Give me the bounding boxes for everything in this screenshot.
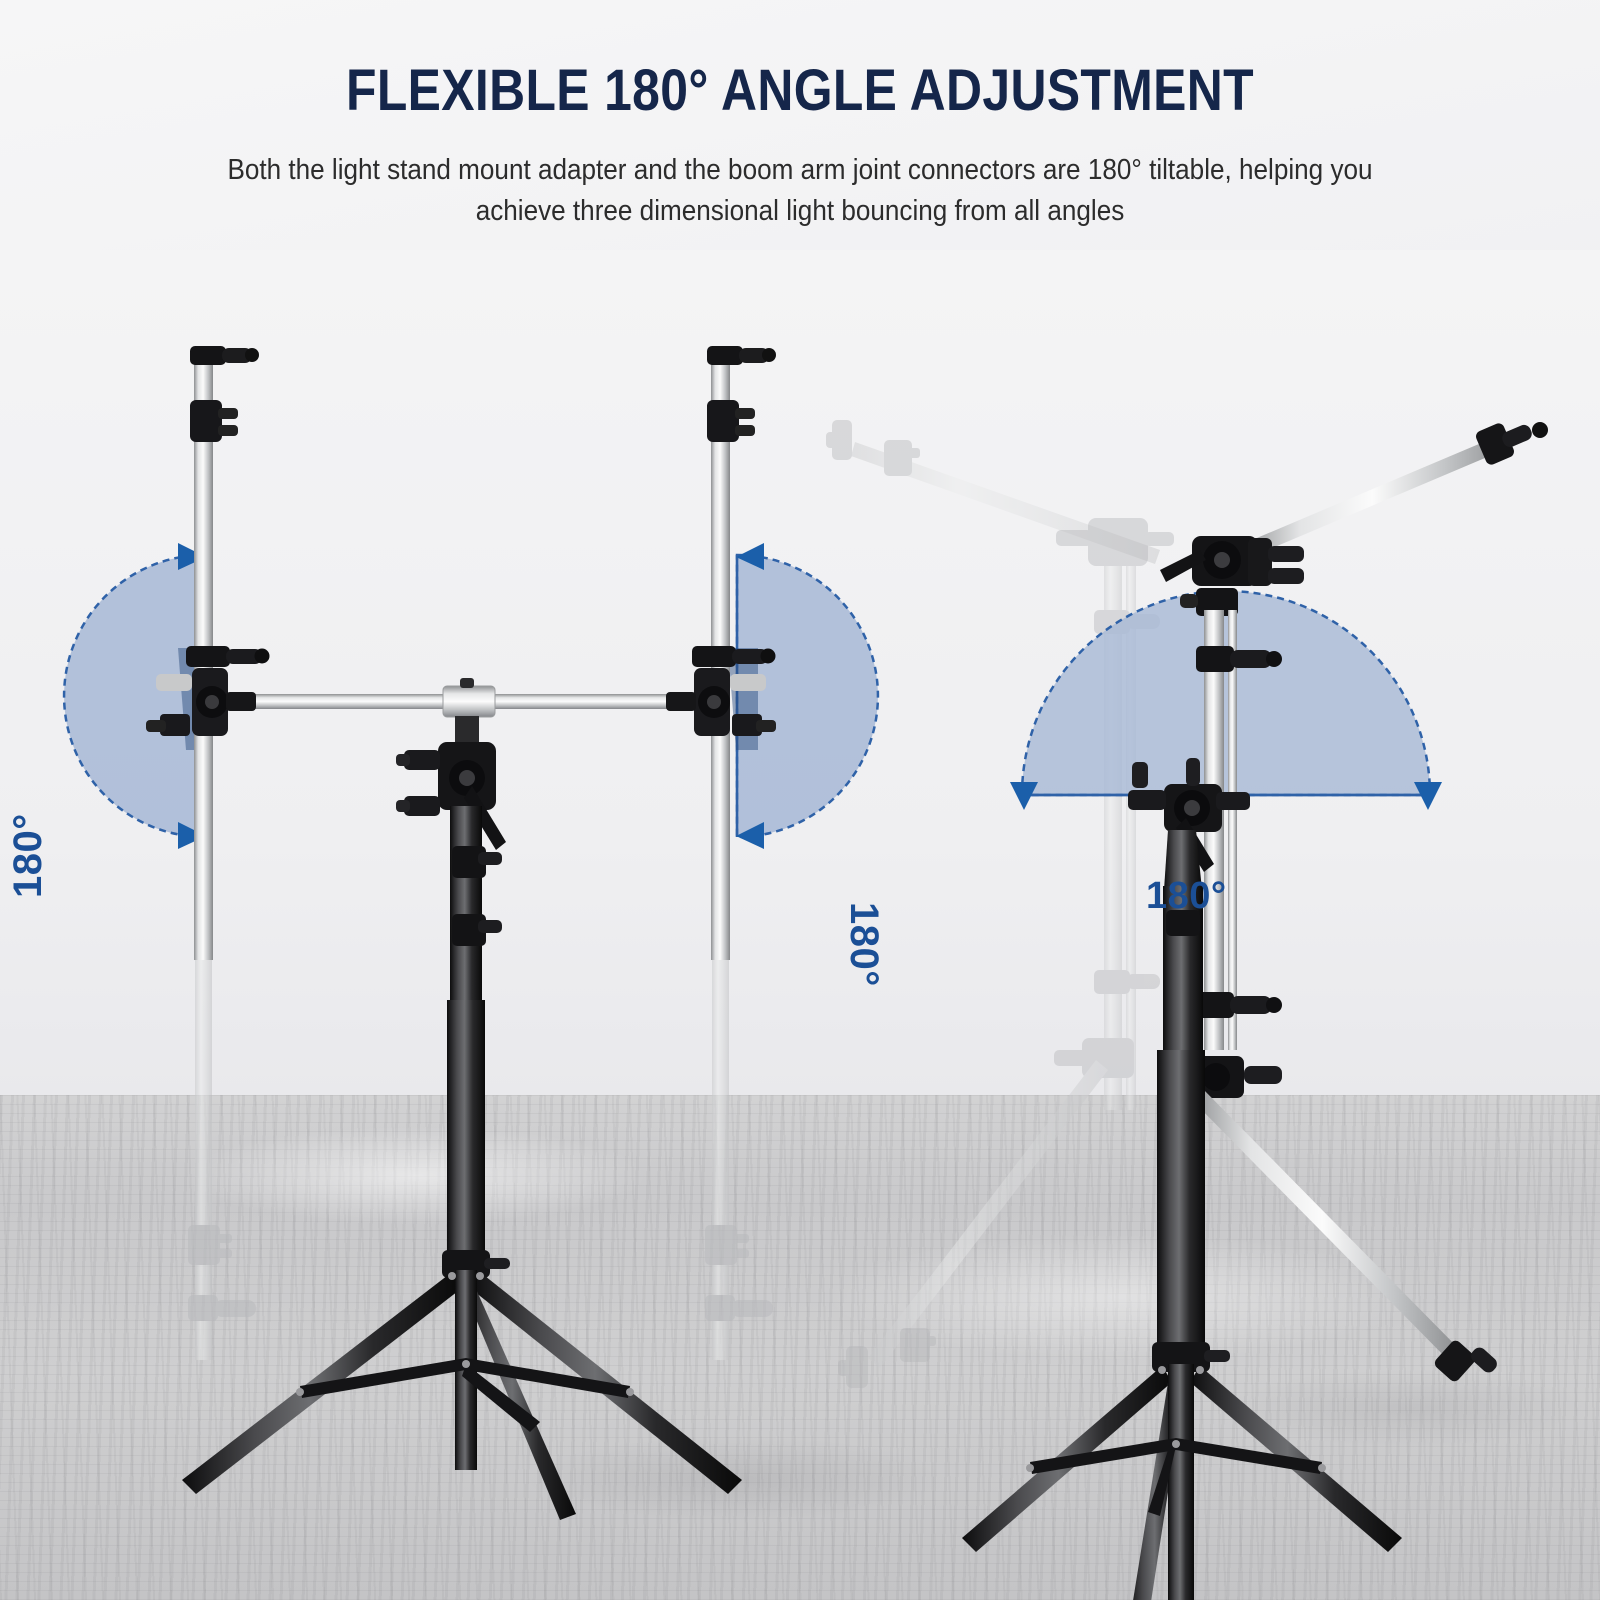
left-angle-label-right: 180° xyxy=(841,902,886,987)
product-scene: 180° 180° 180° xyxy=(0,250,1600,1600)
left-joint-connector-b xyxy=(666,646,776,736)
left-horizontal-crossbar xyxy=(212,678,722,717)
header: FLEXIBLE 180° ANGLE ADJUSTMENT Both the … xyxy=(0,0,1600,231)
page-title: FLEXIBLE 180° ANGLE ADJUSTMENT xyxy=(112,0,1488,120)
right-stand-tripod xyxy=(962,1342,1402,1600)
page-subtitle: Both the light stand mount adapter and t… xyxy=(188,120,1412,231)
right-stand-lower-boom xyxy=(1190,1086,1500,1384)
product-illustration xyxy=(0,250,1600,1600)
right-angle-label: 180° xyxy=(1146,875,1227,918)
left-angle-label-left: 180° xyxy=(6,813,51,898)
right-angle-arc xyxy=(1010,591,1442,810)
product-feature-image: FLEXIBLE 180° ANGLE ADJUSTMENT Both the … xyxy=(0,0,1600,1600)
left-stand-center-column xyxy=(447,806,502,1260)
right-stand-boom-arm xyxy=(1238,422,1548,560)
left-stand-tripod xyxy=(182,1250,742,1520)
